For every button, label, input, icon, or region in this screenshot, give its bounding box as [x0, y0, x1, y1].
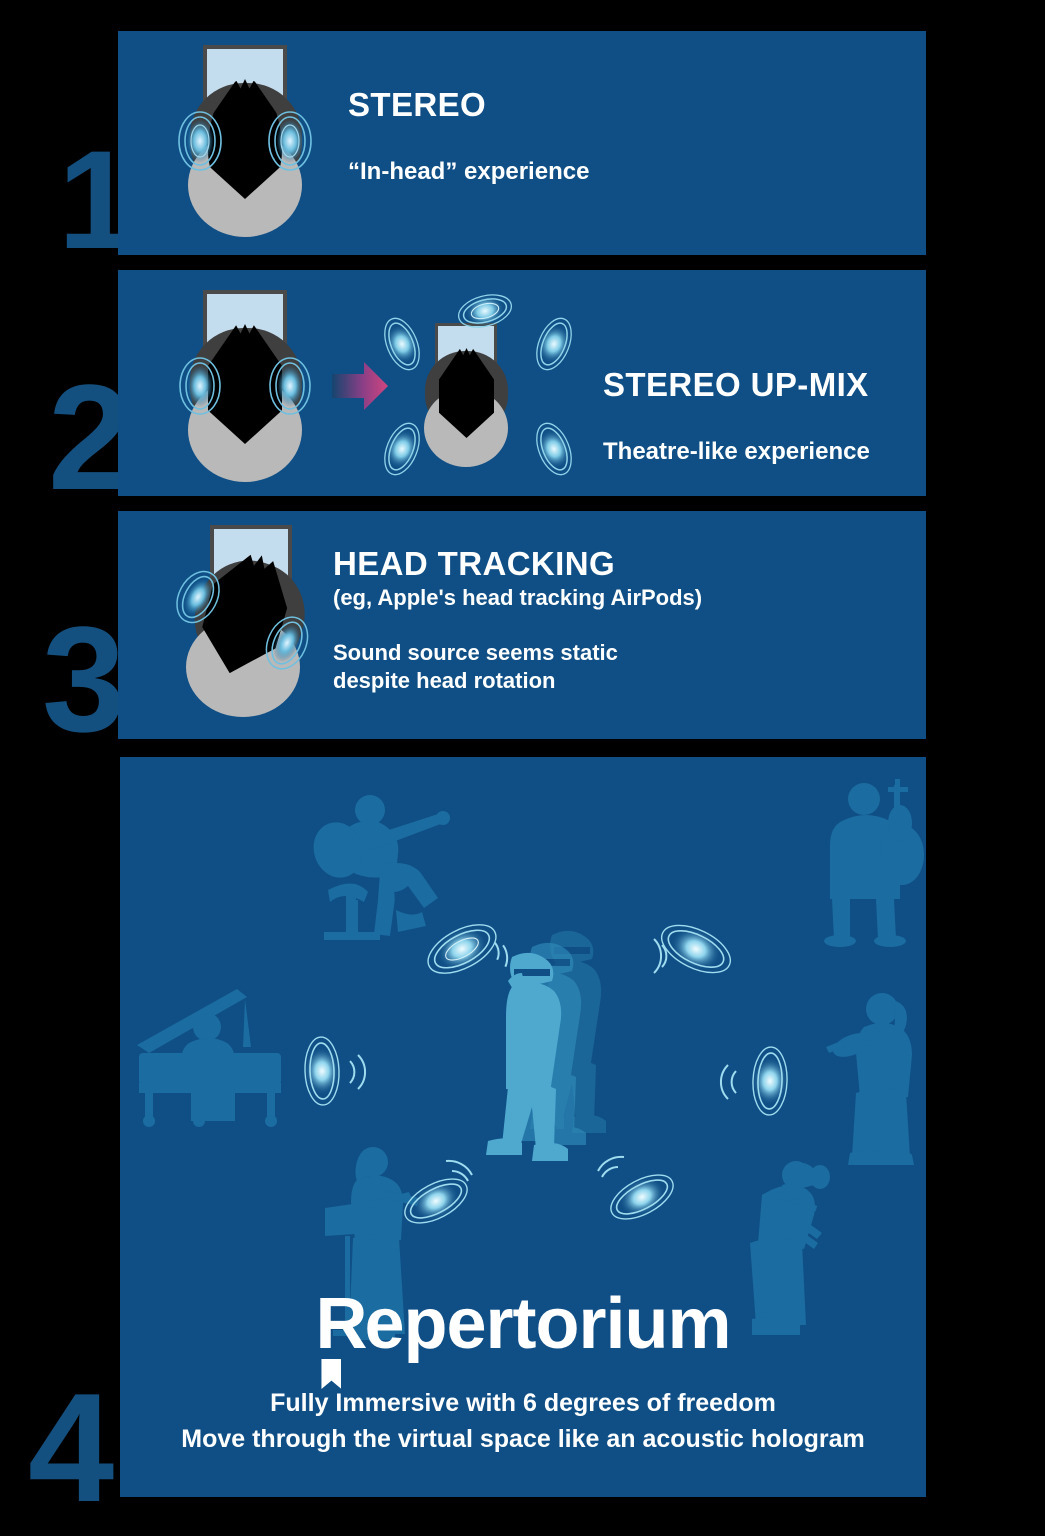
panel-stereo-title: STEREO — [348, 86, 486, 124]
sound-source-icon — [371, 313, 433, 380]
violin-player-silhouette — [820, 987, 926, 1167]
panel-upmix-title: STEREO UP-MIX — [603, 366, 869, 404]
speaker-left-icon — [175, 354, 225, 418]
head-with-headphones-top-view-icon — [180, 45, 310, 240]
cello-player-silhouette — [820, 777, 926, 947]
sound-source-icon — [278, 1027, 388, 1122]
speaker-left-icon — [175, 109, 225, 173]
panel-head-tracking: HEAD TRACKING (eg, Apple's head tracking… — [118, 511, 926, 739]
sound-source-icon — [371, 418, 433, 485]
rotated-head-with-headphones-icon — [180, 525, 310, 720]
panel-head-tracking-body: Sound source seems static despite head r… — [333, 639, 618, 695]
sound-source-icon — [454, 280, 516, 347]
sound-source-icon — [638, 907, 748, 1002]
sound-source-icon — [410, 907, 520, 1002]
logo-initial-r: R — [315, 1283, 366, 1365]
speaker-right-icon — [265, 109, 315, 173]
step-number-4: 4 — [28, 1370, 114, 1525]
sound-source-icon — [523, 418, 585, 485]
sound-source-icon — [580, 1145, 690, 1240]
sound-source-icon — [390, 1149, 500, 1244]
panel-upmix-subtitle: Theatre-like experience — [603, 438, 870, 466]
head-with-headphones-stereo-icon — [180, 290, 310, 485]
panel-immersive-line1: Fully Immersive with 6 degrees of freedo… — [120, 1389, 926, 1418]
panel-stereo: STEREO “In-head” experience — [118, 31, 926, 255]
sound-source-icon — [523, 313, 585, 380]
step-number-3: 3 — [42, 604, 125, 754]
panel-head-tracking-title: HEAD TRACKING — [333, 545, 615, 583]
panel-stereo-subtitle: “In-head” experience — [348, 158, 589, 186]
speaker-right-icon — [265, 354, 315, 418]
panel-head-tracking-note: (eg, Apple's head tracking AirPods) — [333, 585, 702, 611]
logo-ribbon-icon — [321, 1359, 341, 1389]
repertorium-logo: R epertorium — [120, 1283, 926, 1365]
infographic-canvas: 1 2 3 4 — [0, 0, 1045, 1536]
sound-source-icon — [708, 1037, 818, 1132]
logo-rest: epertorium — [364, 1284, 730, 1364]
panel-immersive-line2: Move through the virtual space like an a… — [120, 1425, 926, 1454]
panel-stereo-upmix: STEREO UP-MIX Theatre-like experience — [118, 270, 926, 496]
panel-immersive: R epertorium Fully Immersive with 6 degr… — [120, 757, 926, 1497]
